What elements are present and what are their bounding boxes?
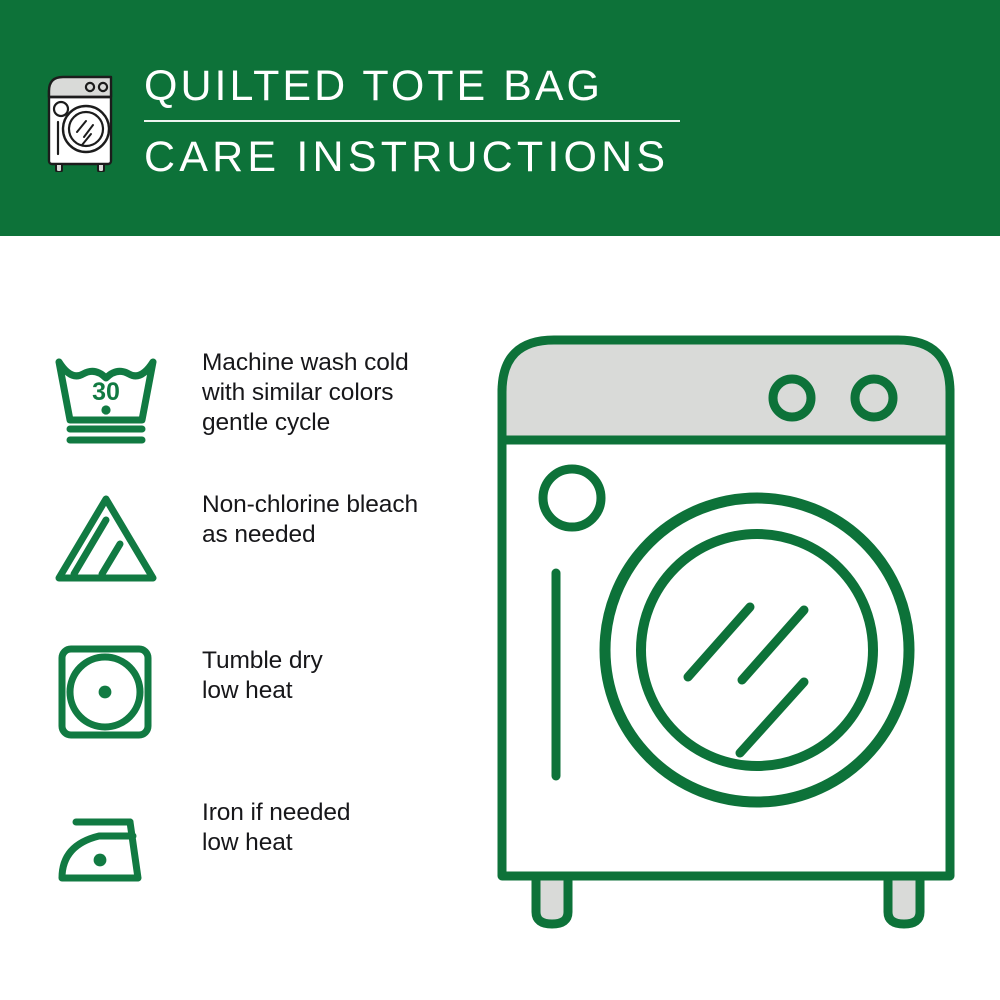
washing-machine-icon [44, 68, 116, 172]
care-item-text: Tumble dry low heat [160, 644, 323, 706]
care-text-line: Tumble dry [202, 646, 323, 676]
header-text-block: QUILTED TOTE BAG CARE INSTRUCTIONS [144, 58, 704, 184]
header-banner: QUILTED TOTE BAG CARE INSTRUCTIONS [0, 0, 1000, 236]
non-chlorine-bleach-triangle-icon [52, 488, 160, 586]
wash-temperature-label: 30 [92, 378, 120, 406]
care-item-bleach: Non-chlorine bleach as needed [52, 488, 472, 586]
care-text-line: low heat [202, 828, 350, 858]
care-item-machine-wash: 30 Machine wash cold with similar colors… [52, 346, 472, 446]
page-subtitle: CARE INSTRUCTIONS [144, 130, 704, 184]
care-instructions-page: QUILTED TOTE BAG CARE INSTRUCTIONS 30 [0, 0, 1000, 1000]
leg-right [888, 876, 920, 924]
care-text-line: Machine wash cold [202, 348, 409, 378]
care-instruction-list: 30 Machine wash cold with similar colors… [0, 236, 480, 1000]
wash-basin-30-gentle-icon: 30 [52, 346, 160, 446]
care-text-line: with similar colors [202, 378, 409, 408]
title-divider [144, 120, 680, 122]
care-item-text: Machine wash cold with similar colors ge… [160, 346, 409, 438]
tumble-dry-low-heat-icon [52, 644, 160, 740]
control-panel [502, 340, 950, 440]
iron-low-heat-icon [52, 796, 160, 896]
care-text-line: Iron if needed [202, 798, 350, 828]
care-text-line: Non-chlorine bleach [202, 490, 418, 520]
care-item-tumble-dry: Tumble dry low heat [52, 644, 472, 740]
care-text-line: as needed [202, 520, 418, 550]
care-item-iron: Iron if needed low heat [52, 796, 472, 896]
leg-left [536, 876, 568, 924]
care-item-text: Non-chlorine bleach as needed [160, 488, 418, 550]
page-title: QUILTED TOTE BAG [144, 58, 704, 114]
care-text-line: gentle cycle [202, 408, 409, 438]
care-text-line: low heat [202, 676, 323, 706]
front-load-washing-machine-illustration [492, 330, 968, 930]
care-item-text: Iron if needed low heat [160, 796, 350, 858]
